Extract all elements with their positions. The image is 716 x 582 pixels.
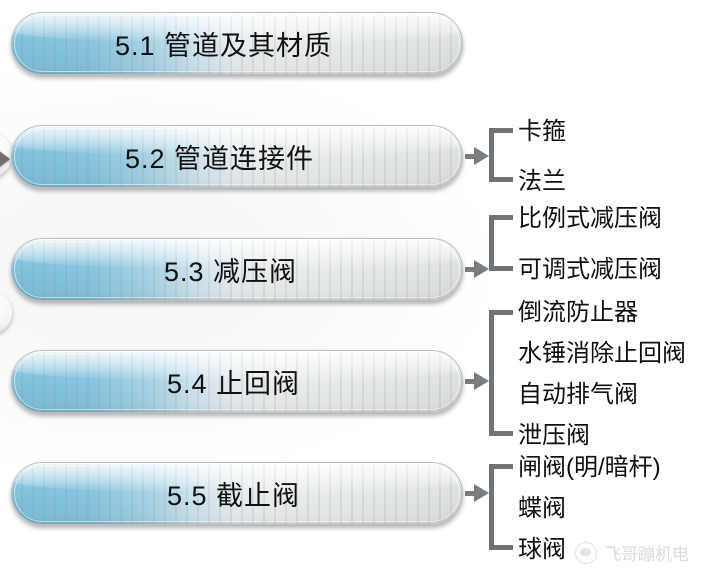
section-pill-5-5[interactable]: 5.5 截止阀 — [11, 462, 463, 525]
connector-arrow-5-4 — [474, 372, 489, 390]
section-label-5-1: 5.1 管道及其材质 — [115, 13, 332, 74]
section-label-5-5: 5.5 截止阀 — [167, 463, 300, 524]
branch-item-5-5-0: 闸阀(明/暗杆) — [518, 456, 661, 480]
connector-arrow-5-5 — [474, 484, 489, 502]
section-pill-5-4[interactable]: 5.4 止回阀 — [11, 350, 463, 413]
branch-bracket-5-5 — [489, 464, 513, 550]
left-edge-chevron-icon — [0, 147, 10, 171]
branch-bracket-5-2 — [489, 128, 513, 182]
branch-item-5-3-1: 可调式减压阀 — [518, 258, 662, 282]
branch-item-5-4-2: 自动排气阀 — [518, 383, 638, 407]
section-pill-5-1[interactable]: 5.1 管道及其材质 — [11, 12, 463, 75]
branch-bracket-5-3 — [489, 215, 513, 271]
slide-canvas: 5.1 管道及其材质 5.2 管道连接件 卡箍 法兰 5.3 减压阀 比例式减压… — [0, 0, 716, 582]
section-label-5-4: 5.4 止回阀 — [167, 351, 300, 412]
branch-bracket-5-4 — [489, 310, 513, 436]
watermark: 飞哥蹦机电 — [575, 540, 689, 565]
section-pill-5-3[interactable]: 5.3 减压阀 — [11, 238, 463, 301]
circle-logo-icon — [575, 542, 597, 564]
branch-item-5-4-1: 水锤消除止回阀 — [518, 342, 686, 366]
connector-arrow-5-2 — [474, 147, 489, 165]
branch-item-5-4-3: 泄压阀 — [518, 424, 590, 448]
branch-item-5-3-0: 比例式减压阀 — [518, 207, 662, 231]
watermark-text: 飞哥蹦机电 — [604, 540, 689, 565]
branch-item-5-5-2: 球阀 — [518, 538, 566, 562]
section-label-5-3: 5.3 减压阀 — [164, 239, 297, 300]
branch-item-5-2-0: 卡箍 — [518, 120, 566, 144]
section-label-5-2: 5.2 管道连接件 — [125, 126, 314, 187]
section-pill-5-2[interactable]: 5.2 管道连接件 — [11, 125, 463, 188]
branch-item-5-4-0: 倒流防止器 — [518, 301, 638, 325]
connector-arrow-5-3 — [474, 260, 489, 278]
left-edge-circle-lower — [0, 292, 12, 334]
branch-item-5-5-1: 蝶阀 — [518, 497, 566, 521]
branch-item-5-2-1: 法兰 — [518, 170, 566, 194]
